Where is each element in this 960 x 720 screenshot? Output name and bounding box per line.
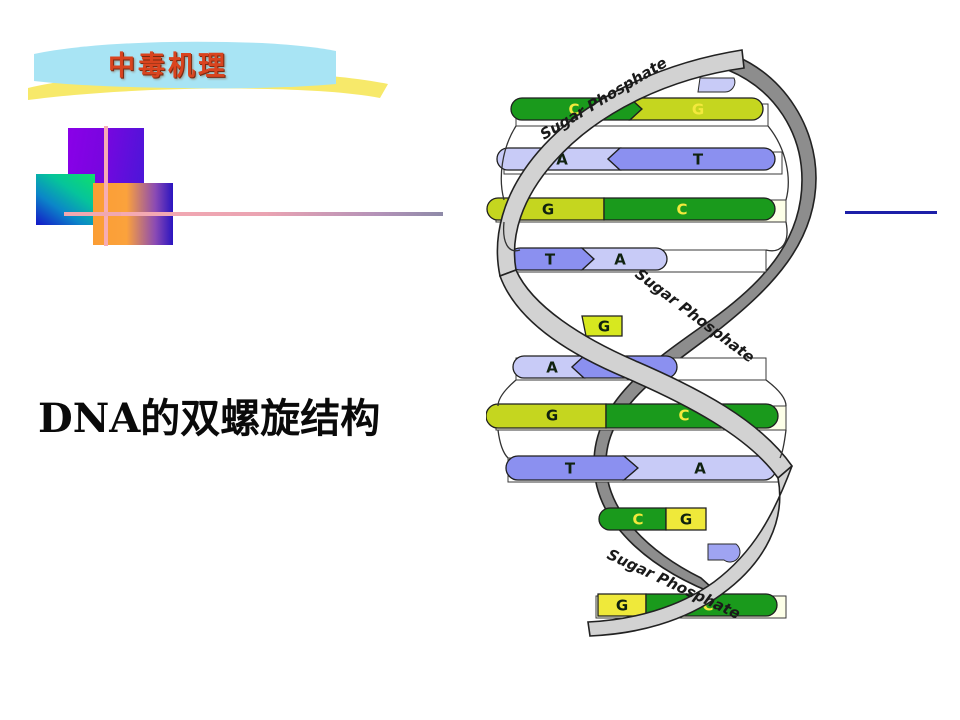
base-label: G (542, 201, 554, 219)
base-right-C (604, 198, 775, 220)
base-label: G (616, 597, 628, 615)
pink-divider-rule (121, 212, 443, 216)
base-label: C (632, 511, 643, 529)
base-label: G (546, 407, 558, 425)
page-title: DNA的双螺旋结构 (38, 386, 380, 444)
base-pair-row: T A (506, 456, 780, 482)
base-label: G (598, 318, 610, 336)
base-label: T (565, 460, 576, 478)
base-pair-row: T A (509, 248, 766, 272)
base-pair-row-partial: G (582, 316, 622, 336)
base-label: A (614, 251, 626, 269)
dna-double-helix-diagram: C G A T G C (486, 48, 826, 638)
decorative-squares-logo (36, 126, 181, 248)
blue-divider-rule (845, 211, 937, 214)
crosshair-vertical-line (104, 126, 108, 246)
base-pair-row: G C (487, 198, 786, 222)
green-blue-square (36, 174, 95, 225)
base-label: A (694, 460, 706, 478)
base-right-T (608, 148, 775, 170)
base-label: T (693, 151, 704, 169)
banner-title-text: 中毒机理 (108, 46, 338, 90)
base-label: A (546, 359, 558, 377)
title-banner: 中毒机理 (28, 40, 388, 102)
base-label: C (676, 201, 687, 219)
slide-canvas: 中毒机理 DNA的双螺旋结构 (0, 0, 960, 720)
base-label: G (692, 101, 704, 119)
base-label: T (545, 251, 556, 269)
base-label: G (680, 511, 692, 529)
base-label: C (678, 407, 689, 425)
base-pair-row: C G (599, 508, 706, 530)
